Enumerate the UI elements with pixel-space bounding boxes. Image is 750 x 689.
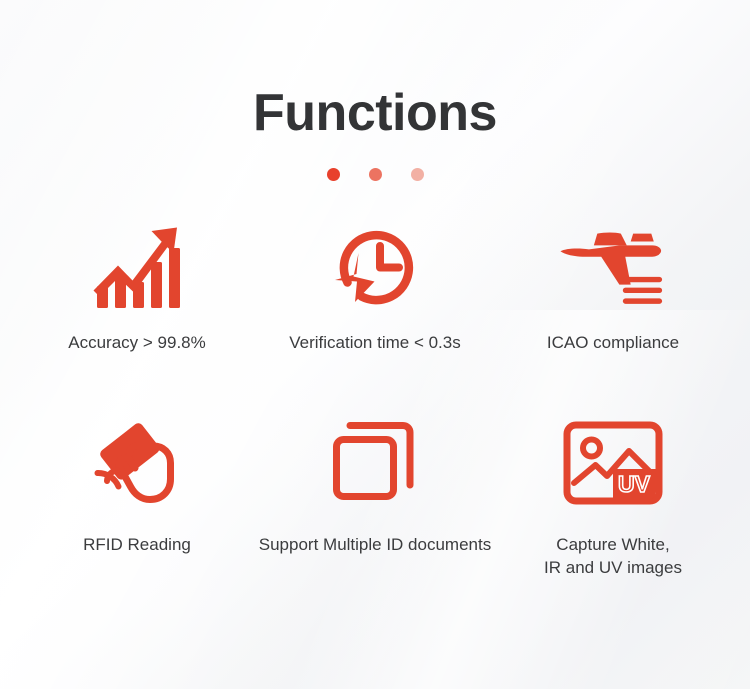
feature-item-capture-images: UV Capture White, IR and UV images [494,415,732,611]
feature-caption: Capture White, IR and UV images [544,533,682,579]
feature-caption: ICAO compliance [547,331,679,354]
feature-item-multiple-id-documents: Support Multiple ID documents [256,415,494,611]
feature-item-rfid-reading: RFID Reading [18,415,256,611]
stacked-documents-icon [320,415,430,511]
airplane-speed-icon [558,219,668,315]
feature-item-accuracy: Accuracy > 99.8% [18,219,256,415]
page-title: Functions [0,86,750,141]
feature-item-icao-compliance: ICAO compliance [494,219,732,415]
feature-caption: Support Multiple ID documents [259,533,491,556]
dot-1-icon [327,168,340,181]
uv-badge-label: UV [618,471,651,497]
photo-uv-icon: UV [558,415,668,511]
growth-chart-icon [82,219,192,315]
feature-item-verification-time: Verification time < 0.3s [256,219,494,415]
decorative-dots [0,168,750,181]
dot-3-icon [411,168,424,181]
clock-bolt-icon [320,219,430,315]
functions-page: Functions [0,0,750,689]
feature-caption: Verification time < 0.3s [289,331,461,354]
dot-2-icon [369,168,382,181]
feature-caption: Accuracy > 99.8% [68,331,206,354]
rfid-contactless-card-icon [82,415,192,511]
page-header: Functions [0,0,750,181]
feature-caption: RFID Reading [83,533,191,556]
features-grid: Accuracy > 99.8% Verification time < 0.3 [0,219,750,611]
